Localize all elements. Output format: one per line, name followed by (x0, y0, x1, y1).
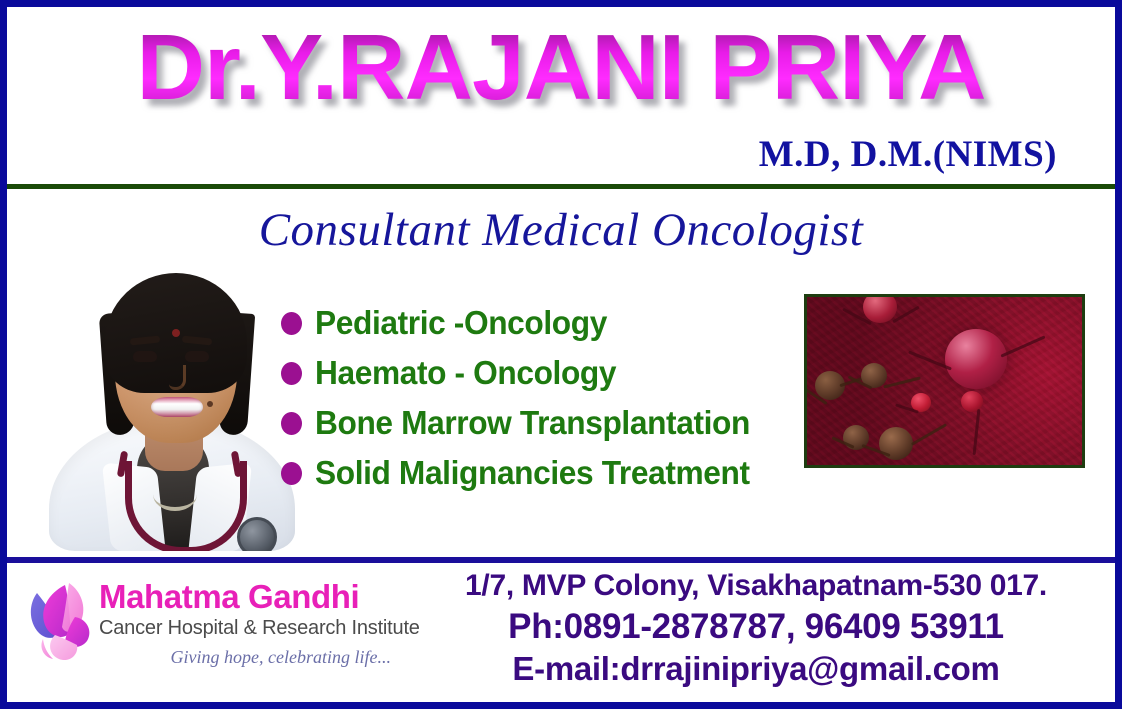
business-card: Dr.Y.RAJANI PRIYA M.D, D.M.(NIMS) Consul… (0, 0, 1122, 709)
services-list: Pediatric -Oncology Haemato - Oncology B… (281, 299, 791, 499)
card-body: Consultant Medical Oncologist (7, 189, 1115, 554)
hospital-logo: Mahatma Gandhi Cancer Hospital & Researc… (21, 573, 397, 691)
service-label: Bone Marrow Transplantation (315, 404, 750, 442)
eye-right (185, 351, 209, 362)
cancer-cell (879, 427, 913, 460)
eye-left (133, 351, 157, 362)
contact-block: 1/7, MVP Colony, Visakhapatnam-530 017. … (397, 567, 1115, 690)
cancer-cell (945, 329, 1007, 389)
hospital-name: Mahatma Gandhi (99, 579, 395, 615)
cancer-cell (861, 363, 887, 388)
cancer-cell (815, 371, 845, 400)
bullet-icon (281, 412, 302, 435)
bullet-icon (281, 462, 302, 485)
doctor-degrees: M.D, D.M.(NIMS) (759, 133, 1057, 176)
hospital-tagline: Giving hope, celebrating life... (99, 647, 395, 668)
list-item: Haemato - Oncology (281, 349, 791, 397)
card-header: Dr.Y.RAJANI PRIYA M.D, D.M.(NIMS) (7, 7, 1115, 181)
mole (207, 401, 213, 407)
stethoscope-chestpiece (237, 517, 277, 551)
doctor-name: Dr.Y.RAJANI PRIYA (0, 21, 1122, 114)
list-item: Pediatric -Oncology (281, 299, 791, 347)
butterfly-lotus-icon (25, 579, 99, 665)
nose (169, 365, 186, 390)
bullet-icon (281, 312, 302, 335)
clinic-address: 1/7, MVP Colony, Visakhapatnam-530 017. (397, 567, 1115, 605)
service-label: Solid Malignancies Treatment (315, 454, 750, 492)
specialty-title: Consultant Medical Oncologist (7, 203, 1115, 257)
logo-text-block: Mahatma Gandhi Cancer Hospital & Researc… (99, 579, 395, 668)
cancer-cell-image (804, 294, 1085, 468)
bindi (172, 329, 180, 337)
phone-numbers[interactable]: Ph:0891-2878787, 96409 53911 (397, 605, 1115, 649)
list-item: Bone Marrow Transplantation (281, 399, 791, 447)
stethoscope-tube (125, 461, 247, 551)
service-label: Haemato - Oncology (315, 354, 616, 392)
smile (151, 397, 203, 417)
cancer-cell (911, 393, 931, 412)
cancer-cell (961, 391, 983, 412)
service-label: Pediatric -Oncology (315, 304, 607, 342)
bullet-icon (281, 362, 302, 385)
hospital-subtitle: Cancer Hospital & Research Institute (99, 615, 395, 642)
doctor-photo (41, 255, 303, 551)
list-item: Solid Malignancies Treatment (281, 449, 791, 497)
card-footer: Mahatma Gandhi Cancer Hospital & Researc… (7, 563, 1115, 702)
email-address[interactable]: E-mail:drrajinipriya@gmail.com (397, 649, 1115, 689)
